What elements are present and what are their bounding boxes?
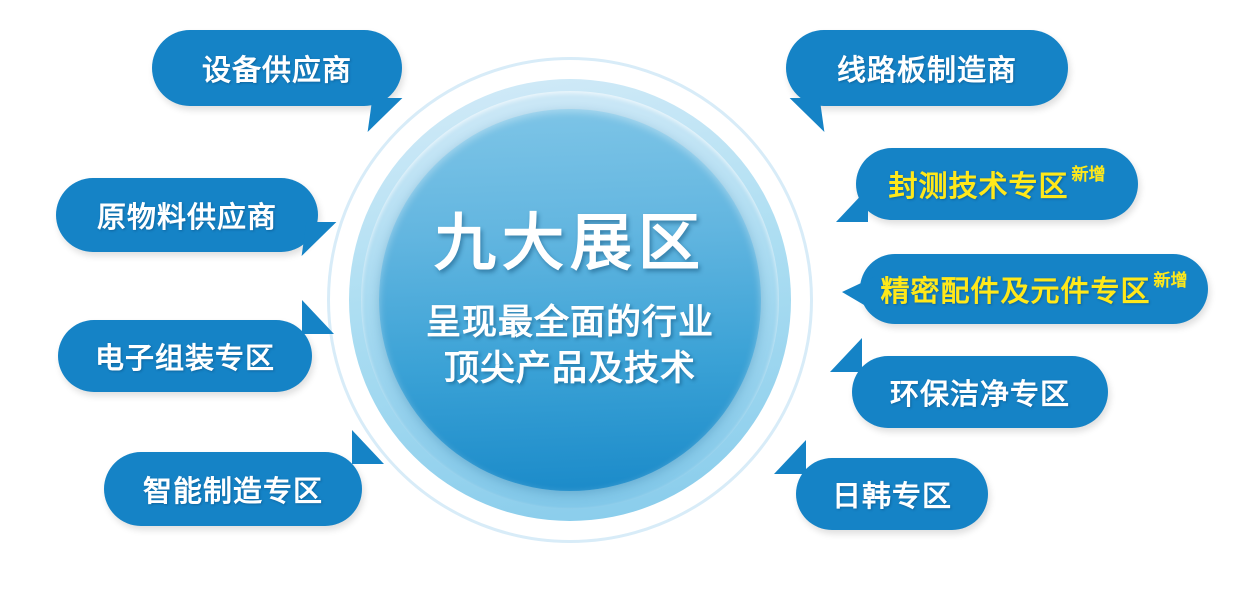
bubble-label: 环保洁净专区 bbox=[890, 371, 1070, 413]
bubble-label: 电子组装专区 bbox=[95, 335, 275, 377]
bubble-equipment-suppliers[interactable]: 设备供应商 bbox=[152, 30, 402, 106]
bubble-tail-icon bbox=[774, 440, 806, 474]
center-subtitle-line-1: 呈现最全面的行业 bbox=[426, 300, 714, 346]
bubble-tail-icon bbox=[790, 98, 825, 132]
bubble-label: 设备供应商 bbox=[202, 47, 352, 89]
center-subtitle-line-2: 顶尖产品及技术 bbox=[444, 346, 696, 392]
bubble-precision-components-zone[interactable]: 精密配件及元件专区 新增 bbox=[860, 254, 1208, 324]
bubble-label: 日韩专区 bbox=[832, 473, 952, 515]
bubble-label: 智能制造专区 bbox=[143, 468, 323, 510]
bubble-electronic-assembly-zone[interactable]: 电子组装专区 bbox=[58, 320, 312, 392]
page-title: 九大展区 bbox=[434, 208, 706, 277]
new-badge: 新增 bbox=[1154, 266, 1188, 291]
infographic-canvas: 九大展区 呈现最全面的行业 顶尖产品及技术 设备供应商 线路板制造商 原物料供应… bbox=[0, 0, 1252, 590]
bubble-eco-cleanroom-zone[interactable]: 环保洁净专区 bbox=[852, 356, 1108, 428]
bubble-tail-icon bbox=[842, 276, 876, 312]
center-text-block: 九大展区 呈现最全面的行业 顶尖产品及技术 bbox=[379, 109, 761, 491]
bubble-packaging-testing-zone[interactable]: 封测技术专区 新增 bbox=[856, 148, 1138, 220]
bubble-tail-icon bbox=[836, 188, 868, 222]
bubble-tail-icon bbox=[302, 300, 334, 334]
bubble-tail-icon bbox=[302, 222, 337, 256]
bubble-smart-manufacturing-zone[interactable]: 智能制造专区 bbox=[104, 452, 362, 526]
bubble-tail-icon bbox=[830, 338, 862, 372]
bubble-label: 原物料供应商 bbox=[97, 194, 277, 236]
bubble-japan-korea-zone[interactable]: 日韩专区 bbox=[796, 458, 988, 530]
bubble-tail-icon bbox=[368, 98, 403, 132]
bubble-raw-material-suppliers[interactable]: 原物料供应商 bbox=[56, 178, 318, 252]
bubble-pcb-manufacturers[interactable]: 线路板制造商 bbox=[786, 30, 1068, 106]
new-badge: 新增 bbox=[1072, 160, 1106, 185]
bubble-tail-icon bbox=[352, 430, 384, 464]
center-circle-graphic: 九大展区 呈现最全面的行业 顶尖产品及技术 bbox=[327, 57, 813, 543]
bubble-label: 线路板制造商 bbox=[837, 47, 1017, 89]
bubble-label: 精密配件及元件专区 bbox=[881, 268, 1151, 310]
bubble-label: 封测技术专区 bbox=[888, 163, 1068, 205]
